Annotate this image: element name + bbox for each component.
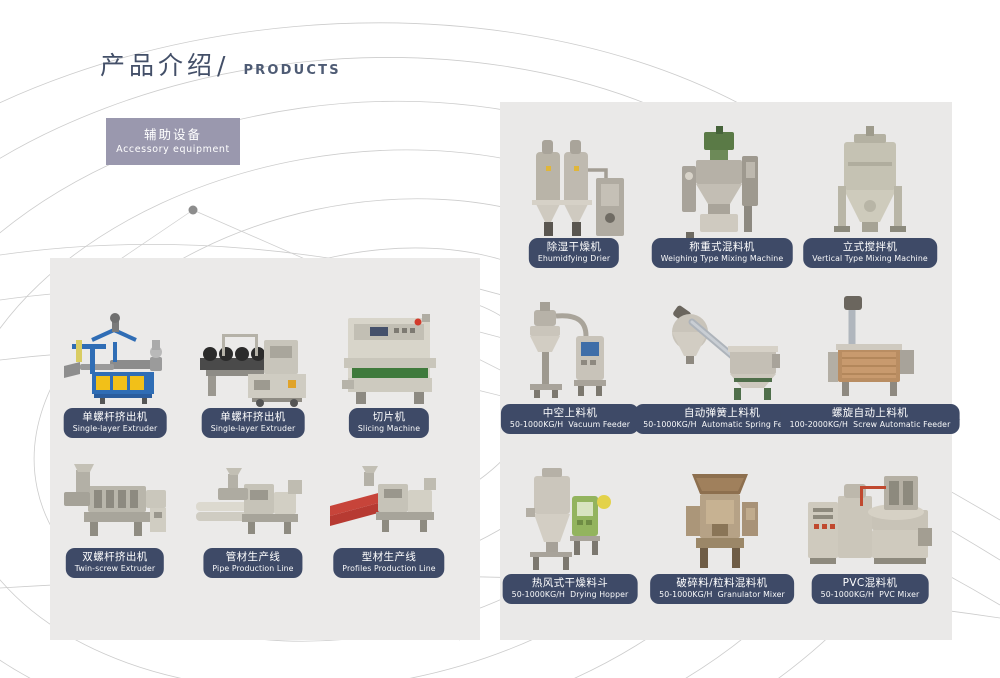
product-card-granulator-mixer[interactable]: 破碎料/粒料混料机 50-1000KG/H Granulator Mixer xyxy=(652,462,792,602)
product-card-dehumidifying-drier[interactable]: 除湿干燥机 Ehumidfying Drier xyxy=(508,126,640,266)
product-label-en: 100-2000KG/H Screw Automatic Feeder xyxy=(790,420,951,430)
product-label-en: Twin-screw Extruder xyxy=(75,564,155,574)
product-label-cn: 螺旋自动上料机 xyxy=(790,407,951,420)
product-label-cn: 立式搅拌机 xyxy=(812,241,928,254)
product-label-en: Slicing Machine xyxy=(358,424,420,434)
spring-feeder-icon xyxy=(652,292,792,402)
product-label-cn: 双螺杆挤出机 xyxy=(75,551,155,564)
dehumidifying-drier-icon xyxy=(508,126,640,238)
product-label-en: 50-1000KG/H Vacuum Feeder xyxy=(510,420,630,430)
product-label-cn: 称重式混料机 xyxy=(661,241,784,254)
product-card-spring-feeder[interactable]: 自动弹簧上料机 50-1000KG/H Automatic Spring Fee… xyxy=(652,292,792,432)
product-label: 型材生产线 Profiles Production Line xyxy=(333,548,444,578)
product-label-cn: PVC混料机 xyxy=(821,577,920,590)
product-label: 单螺杆挤出机 Single-layer Extruder xyxy=(64,408,167,438)
product-label-cn: 除湿干燥机 xyxy=(538,241,610,254)
page-title-slash: / xyxy=(217,51,225,80)
accessory-equipment-badge: 辅助设备 Accessory equipment xyxy=(106,118,240,165)
product-label: 中空上料机 50-1000KG/H Vacuum Feeder xyxy=(501,404,639,434)
product-card-weighing-mixer[interactable]: 称重式混料机 Weighing Type Mixing Machine xyxy=(656,126,788,266)
product-card-profiles-production-line[interactable]: 型材生产线 Profiles Production Line xyxy=(324,440,454,580)
granulator-mixer-icon xyxy=(652,462,792,572)
weighing-mixer-icon xyxy=(656,126,788,238)
product-label: 螺旋自动上料机 100-2000KG/H Screw Automatic Fee… xyxy=(781,404,960,434)
pvc-mixer-icon xyxy=(800,462,940,572)
page-title-cn: 产品介绍 xyxy=(100,46,216,82)
product-label-en: Single-layer Extruder xyxy=(73,424,158,434)
product-label: 单螺杆挤出机 Single-layer Extruder xyxy=(202,408,305,438)
vacuum-feeder-icon xyxy=(500,292,640,402)
product-label-cn: 型材生产线 xyxy=(342,551,435,564)
product-label-en: Weighing Type Mixing Machine xyxy=(661,254,784,264)
product-label-en: Ehumidfying Drier xyxy=(538,254,610,264)
product-label: 称重式混料机 Weighing Type Mixing Machine xyxy=(652,238,793,268)
product-label: PVC混料机 50-1000KG/H PVC Mixer xyxy=(812,574,929,604)
product-label-cn: 热风式干燥料斗 xyxy=(512,577,629,590)
screw-feeder-icon xyxy=(800,292,940,402)
product-card-twin-screw-extruder[interactable]: 双螺杆挤出机 Twin-screw Extruder xyxy=(50,440,180,580)
product-label-cn: 自动弹簧上料机 xyxy=(643,407,801,420)
product-label-en: Profiles Production Line xyxy=(342,564,435,574)
product-card-slicing-machine[interactable]: 切片机 Slicing Machine xyxy=(324,300,454,440)
product-card-vertical-mixer[interactable]: 立式搅拌机 Vertical Type Mixing Machine xyxy=(804,126,936,266)
product-label: 切片机 Slicing Machine xyxy=(349,408,429,438)
product-label-cn: 中空上料机 xyxy=(510,407,630,420)
page-title-en: PRODUCTS xyxy=(243,63,340,78)
product-label: 立式搅拌机 Vertical Type Mixing Machine xyxy=(803,238,937,268)
product-label: 管材生产线 Pipe Production Line xyxy=(203,548,302,578)
roller-conveyor-line-icon xyxy=(188,300,318,410)
profiles-production-line-icon xyxy=(324,440,454,550)
product-card-drying-hopper[interactable]: 热风式干燥料斗 50-1000KG/H Drying Hopper xyxy=(500,462,640,602)
drying-hopper-icon xyxy=(500,462,640,572)
twin-screw-extruder-icon xyxy=(50,440,180,550)
product-label-cn: 管材生产线 xyxy=(212,551,293,564)
pipe-production-line-icon xyxy=(188,440,318,550)
product-card-screw-feeder[interactable]: 螺旋自动上料机 100-2000KG/H Screw Automatic Fee… xyxy=(800,292,940,432)
product-label-en: Vertical Type Mixing Machine xyxy=(812,254,928,264)
product-card-vacuum-feeder[interactable]: 中空上料机 50-1000KG/H Vacuum Feeder xyxy=(500,292,640,432)
accessory-badge-en: Accessory equipment xyxy=(116,143,230,156)
slicing-machine-icon xyxy=(324,300,454,410)
product-card-pipe-production-line[interactable]: 管材生产线 Pipe Production Line xyxy=(188,440,318,580)
product-label-en: 50-1000KG/H Granulator Mixer xyxy=(659,590,785,600)
extruder-blue-yellow-icon xyxy=(50,300,180,410)
product-catalog-page: 产品介绍 / PRODUCTS 辅助设备 Accessory equipment xyxy=(0,0,1000,678)
product-label-en: 50-1000KG/H Drying Hopper xyxy=(512,590,629,600)
product-label: 热风式干燥料斗 50-1000KG/H Drying Hopper xyxy=(503,574,638,604)
product-label: 除湿干燥机 Ehumidfying Drier xyxy=(529,238,619,268)
product-label: 破碎料/粒料混料机 50-1000KG/H Granulator Mixer xyxy=(650,574,794,604)
page-title: 产品介绍 / PRODUCTS xyxy=(100,46,341,82)
product-label: 双螺杆挤出机 Twin-screw Extruder xyxy=(66,548,164,578)
vertical-mixer-icon xyxy=(804,126,936,238)
product-card-pvc-mixer[interactable]: PVC混料机 50-1000KG/H PVC Mixer xyxy=(800,462,940,602)
accessory-badge-cn: 辅助设备 xyxy=(144,127,202,143)
product-label-cn: 单螺杆挤出机 xyxy=(211,411,296,424)
product-label-cn: 切片机 xyxy=(358,411,420,424)
product-label-en: Single-layer Extruder xyxy=(211,424,296,434)
product-label-en: 50-1000KG/H PVC Mixer xyxy=(821,590,920,600)
product-card-single-layer-extruder-2[interactable]: 单螺杆挤出机 Single-layer Extruder xyxy=(188,300,318,440)
product-label-en: 50-1000KG/H Automatic Spring Feeder xyxy=(643,420,801,430)
product-card-single-layer-extruder-1[interactable]: 单螺杆挤出机 Single-layer Extruder xyxy=(50,300,180,440)
product-label-cn: 破碎料/粒料混料机 xyxy=(659,577,785,590)
product-label-cn: 单螺杆挤出机 xyxy=(73,411,158,424)
product-label-en: Pipe Production Line xyxy=(212,564,293,574)
